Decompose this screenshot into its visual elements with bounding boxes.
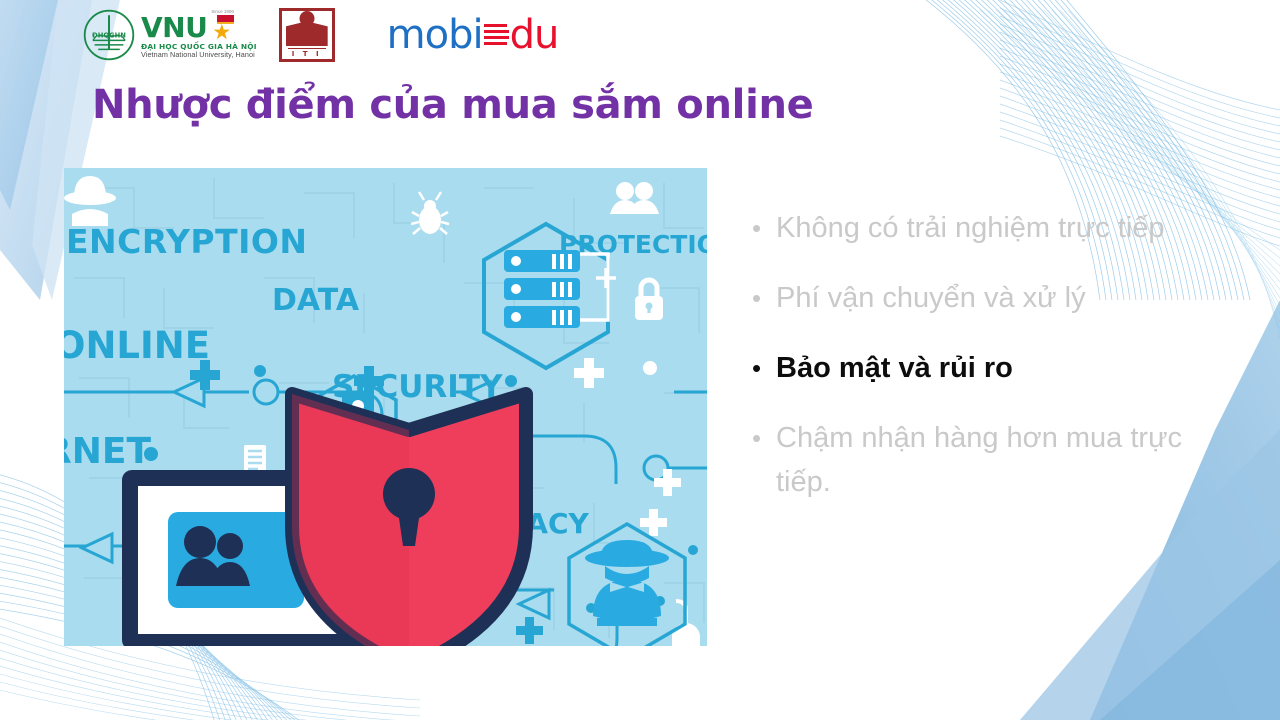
list-item[interactable]: • Không có trải nghiệm trực tiếp [752,206,1262,250]
bullet-marker: • [752,206,776,250]
vnu-name-en: Vietnam National University, Hanoi [141,51,257,58]
iti-label: I T I [288,48,326,58]
list-item[interactable]: • Bảo mật và rủi ro [752,346,1262,390]
cyber-security-illustration: ENCRYPTION DATA ONLINE PROTECTION SECURI… [64,168,707,646]
bullet-marker: • [752,276,776,320]
svg-text:ONLINE: ONLINE [64,324,210,367]
mobiedu-part2: du [510,15,559,55]
vnu-acronym: VNU [141,15,207,42]
bullet-marker: • [752,416,776,460]
bullet-text: Phí vận chuyển và xử lý [776,276,1086,320]
mobiedu-e-book-icon [484,20,509,50]
bullet-text: Bảo mật và rủi ro [776,346,1013,390]
logo-bar: ĐHQGHN VNU Since 1906 ★ ĐẠI HỌC QUỐC GIA… [82,4,558,66]
bullet-marker: • [752,346,776,390]
svg-text:ĐHQGHN: ĐHQGHN [92,32,126,40]
vnu-seal-icon: ĐHQGHN [82,8,136,62]
iti-book-person-icon [285,12,329,46]
svg-text:DATA: DATA [272,283,360,318]
mobiedu-logo: mobi du [387,15,559,55]
vnu-star-flag-icon: Since 1906 ★ [209,12,235,42]
page-title: Nhược điểm của mua sắm online [92,82,814,128]
vnu-logo: ĐHQGHN VNU Since 1906 ★ ĐẠI HỌC QUỐC GIA… [82,6,257,64]
slide: ĐHQGHN VNU Since 1906 ★ ĐẠI HỌC QUỐC GIA… [0,0,1280,720]
svg-text:RNET: RNET [64,431,151,472]
vnu-since-label: Since 1906 [211,10,234,15]
bullet-text: Chậm nhận hàng hơn mua trực tiếp. [776,416,1206,504]
list-item[interactable]: • Phí vận chuyển và xử lý [752,276,1262,320]
iti-logo: I T I [279,8,335,62]
bullet-text: Không có trải nghiệm trực tiếp [776,206,1165,250]
vnu-name-vi: ĐẠI HỌC QUỐC GIA HÀ NỘI [141,43,257,50]
list-item[interactable]: • Chậm nhận hàng hơn mua trực tiếp. [752,416,1262,504]
mobiedu-part1: mobi [387,15,483,55]
svg-text:ENCRYPTION: ENCRYPTION [66,222,308,261]
security-shield [292,394,526,646]
bullet-list: • Không có trải nghiệm trực tiếp • Phí v… [752,206,1262,530]
